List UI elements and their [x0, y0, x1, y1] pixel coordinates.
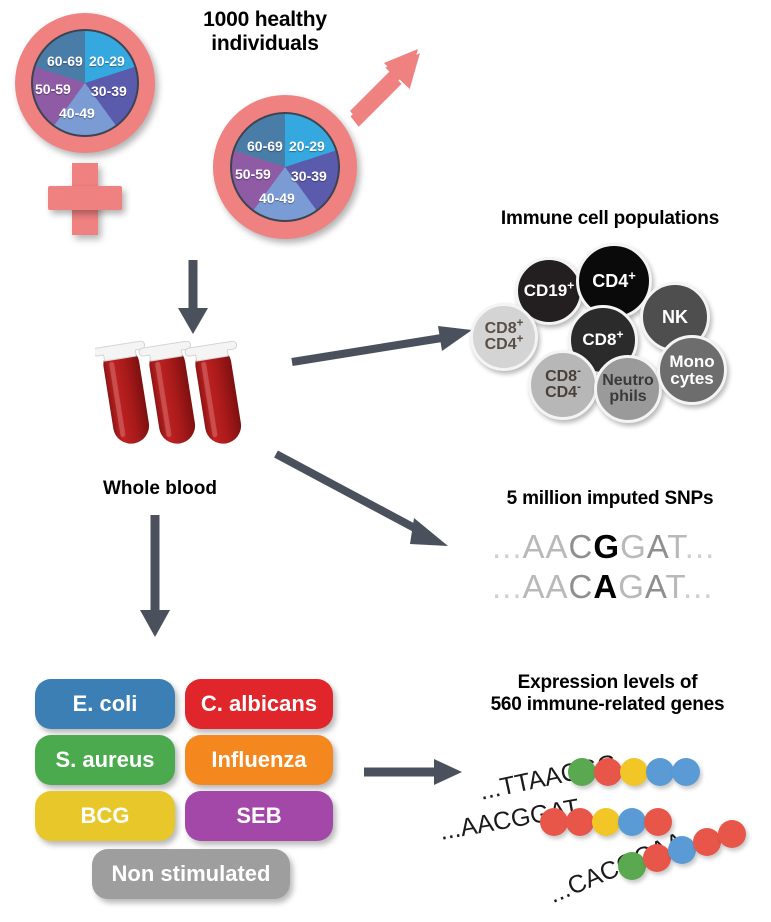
expression-bead [620, 758, 648, 786]
stimulation-label: SEB [236, 803, 281, 829]
expression-bead [618, 808, 646, 836]
immune-cell-label: CD8+ [582, 331, 623, 348]
snp-sequence-row-2: ...AACAGAT... [492, 568, 713, 606]
immune-cell-neutrophils: Neutrophils [594, 355, 662, 423]
snp-leading-dots: ... [492, 568, 523, 605]
snp-base: A [523, 528, 546, 565]
expression-title-line1: Expression levels of [450, 672, 765, 694]
expression-bead [618, 852, 646, 880]
expression-bead [594, 758, 622, 786]
immune-cell-label: CD4+ [592, 272, 636, 290]
stimulation-label: C. albicans [201, 691, 317, 717]
stimulation-box-ecoli[interactable]: E. coli [35, 679, 175, 729]
immune-cell-cd8cd4: CD8+CD4+ [470, 303, 538, 371]
immune-cell-cd19: CD19+ [515, 257, 583, 325]
expression-title-line2: 560 immune-related genes [450, 694, 765, 716]
snp-base: A [647, 528, 668, 565]
stimulation-label: Influenza [211, 747, 306, 773]
section-title-snps: 5 million imputed SNPs [455, 488, 765, 510]
immune-cell-label: CD8+CD4+ [485, 321, 524, 354]
expression-bead [643, 844, 671, 872]
immune-cell-label: Neutrophils [602, 373, 654, 406]
snp-base: A [523, 568, 546, 605]
snp-base: G [620, 528, 647, 565]
snp-base: T [667, 528, 685, 565]
snp-base: C [569, 528, 594, 565]
stimulation-box-influenza[interactable]: Influenza [185, 735, 333, 785]
snp-trailing-dots: ... [685, 528, 716, 565]
expression-bead [566, 808, 594, 836]
immune-cell-cd8: CD8+ [568, 305, 638, 375]
section-title-expression: Expression levels of 560 immune-related … [450, 672, 765, 716]
snp-base: A [546, 568, 569, 605]
snp-sequence-row-1: ...AACGGAT... [492, 528, 715, 566]
stimulation-label: BCG [81, 803, 130, 829]
stimulation-box-bcg[interactable]: BCG [35, 791, 175, 841]
immune-cell-label: CD19+ [524, 282, 575, 299]
section-title-immune: Immune cell populations [455, 208, 765, 230]
stimulation-box-nonstimulated[interactable]: Non stimulated [92, 849, 290, 899]
snp-base: A [546, 528, 569, 565]
immune-cell-cd8cd4: CD8-CD4- [528, 350, 598, 420]
snp-base: A [593, 568, 618, 605]
snp-trailing-dots: ... [683, 568, 714, 605]
immune-cell-cd4: CD4+ [576, 243, 652, 319]
snp-base: G [618, 568, 645, 605]
stimulation-box-calbicans[interactable]: C. albicans [185, 679, 333, 729]
expression-bead [592, 808, 620, 836]
snp-base: C [569, 568, 594, 605]
expression-bead [668, 836, 696, 864]
expression-bead [718, 820, 746, 848]
stimulation-box-seb[interactable]: SEB [185, 791, 333, 841]
expression-strands: ...TTAACGG...AACGGAT...CACGCAA [440, 730, 771, 922]
immune-cell-label: Monocytes [669, 353, 714, 388]
stimulation-panel: E. coliC. albicansS. aureusInfluenzaBCGS… [0, 0, 400, 922]
expression-sequence-3: ...CACGCAA [544, 827, 688, 910]
figure-canvas: 1000 healthy individuals 20-2930-3940-49… [0, 0, 771, 922]
immune-cell-monocytes: Monocytes [657, 335, 727, 405]
expression-bead [672, 758, 700, 786]
immune-cell-label: NK [662, 308, 688, 326]
expression-bead [646, 758, 674, 786]
immune-cell-nk: NK [640, 282, 710, 352]
snp-leading-dots: ... [492, 528, 523, 565]
stimulation-label: S. aureus [55, 747, 154, 773]
expression-bead [540, 808, 568, 836]
expression-bead [568, 758, 596, 786]
immune-cell-label: CD8-CD4- [545, 369, 581, 402]
snp-base: T [665, 568, 683, 605]
snp-base: G [593, 528, 620, 565]
stimulation-box-saureus[interactable]: S. aureus [35, 735, 175, 785]
stimulation-label: E. coli [73, 691, 138, 717]
stimulation-label: Non stimulated [112, 861, 271, 887]
snp-base: A [645, 568, 666, 605]
expression-bead [693, 828, 721, 856]
